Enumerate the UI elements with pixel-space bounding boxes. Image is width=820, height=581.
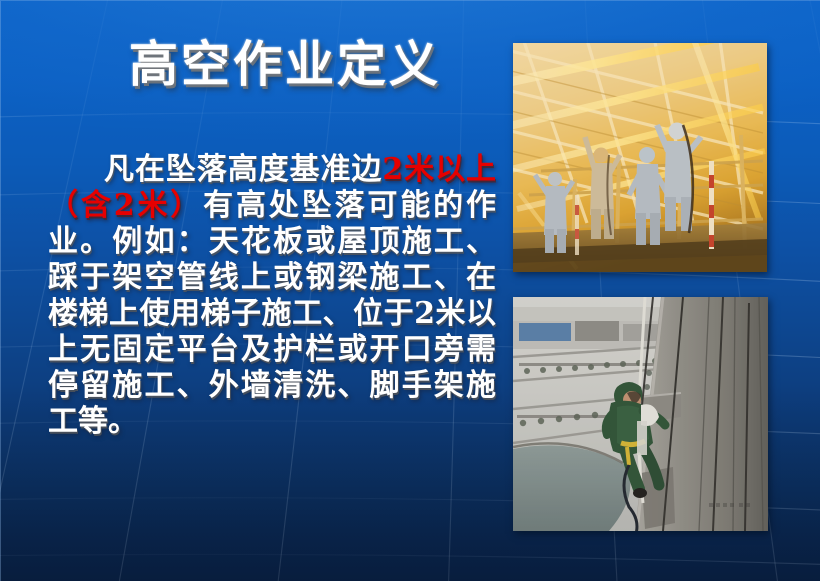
ceiling-scaffold-photo-content (513, 43, 767, 272)
rope-suspension-photo[interactable] (513, 297, 768, 531)
body-segment-plain-1: 凡在坠落高度基准边 (104, 152, 382, 187)
slide-body-text: 凡在坠落高度基准边2米以上（含2米）有高处坠落可能的作业。例如：天花板或屋顶施工… (48, 152, 496, 440)
presentation-slide: 高空作业定义 凡在坠落高度基准边2米以上（含2米）有高处坠落可能的作业。例如：天… (0, 0, 820, 581)
rope-suspension-photo-content (513, 297, 768, 531)
body-segment-plain-2: 有高处坠落可能的作业。例如：天花板或屋顶施工、踩于架空管线上或钢梁施工、在楼梯上… (48, 188, 496, 439)
ceiling-scaffold-photo[interactable] (513, 43, 767, 272)
slide-title: 高空作业定义 (90, 36, 480, 94)
